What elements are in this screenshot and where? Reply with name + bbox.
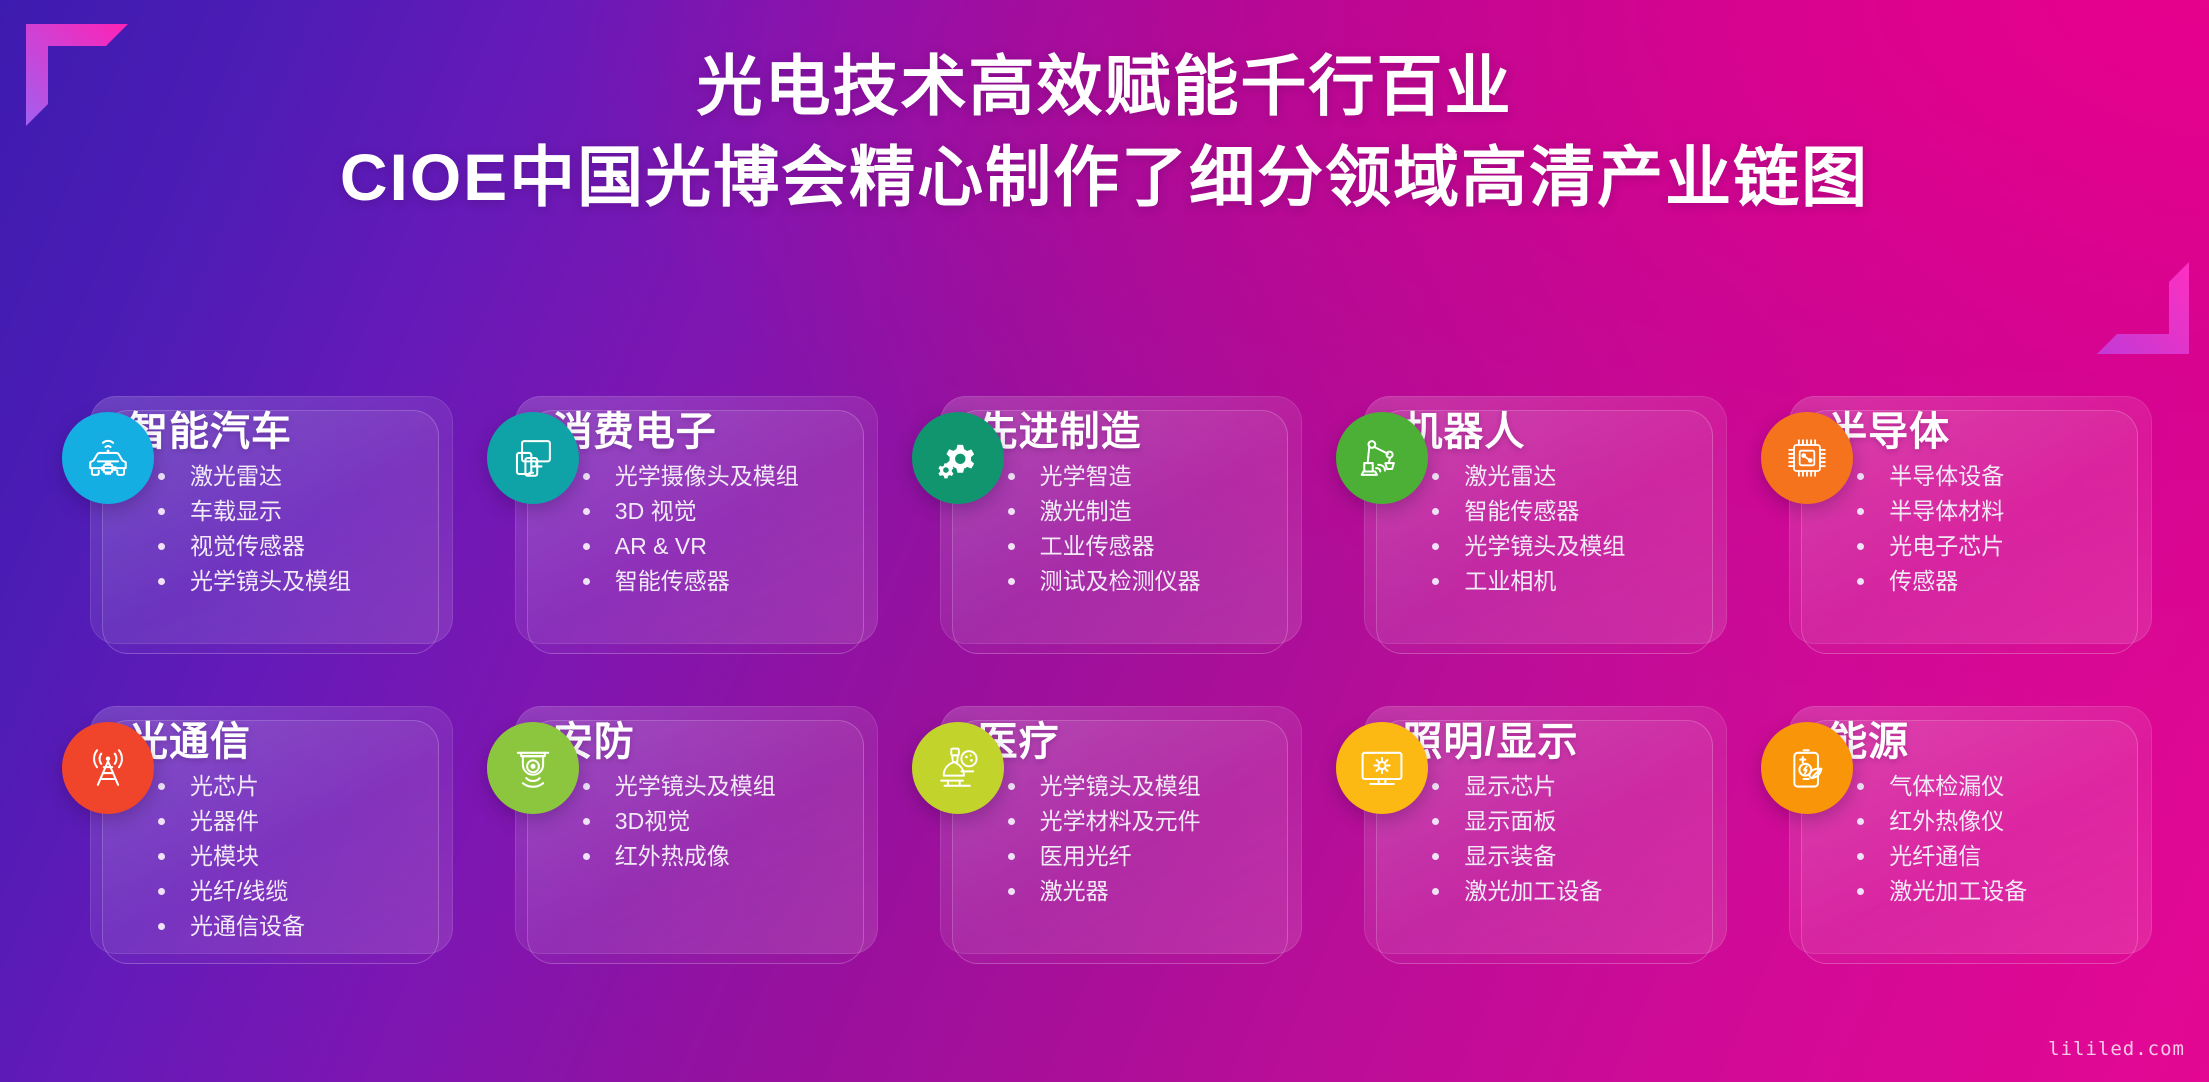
gears-icon [912,412,1004,504]
title-line-2: CIOE中国光博会精心制作了细分领域高清产业链图 [0,137,2209,218]
industry-card-item: 工业相机 [1430,564,1711,599]
industry-card-title: 消费电子 [553,410,862,455]
industry-card-item: 激光雷达 [156,459,437,494]
industry-card-body: 半导体 半导体设备半导体材料光电子芯片传感器 [1827,398,2136,660]
industry-card-list: 光芯片光器件光模块光纤/线缆光通信设备 [128,769,437,944]
industry-card-item: 光电子芯片 [1855,529,2136,564]
antenna-tower-icon [62,722,154,814]
industry-card-item: 光模块 [156,839,437,874]
industry-card-body: 消费电子 光学摄像头及模组3D 视觉AR & VR智能传感器 [553,398,862,660]
industry-card-item: 光器件 [156,804,437,839]
industry-card-item: 红外热像仪 [1855,804,2136,839]
industry-card-item: 智能传感器 [1430,494,1711,529]
monitor-brightness-icon [1336,722,1428,814]
industry-card-body: 安防 光学镜头及模组3D视觉红外热成像 [553,708,862,970]
industry-card-cell: 机器人 激光雷达智能传感器光学镜头及模组工业相机 [1336,388,1727,660]
battery-leaf-icon [1761,722,1853,814]
industry-card-item: 光通信设备 [156,909,437,944]
industry-card-item: 光纤通信 [1855,839,2136,874]
industry-card-cell: 半导体 半导体设备半导体材料光电子芯片传感器 [1761,388,2152,660]
industry-card-title: 照明/显示 [1402,720,1711,765]
industry-card-item: 工业传感器 [1006,529,1287,564]
cctv-camera-icon [487,722,579,814]
industry-card-item: 光学材料及元件 [1006,804,1287,839]
industry-card-item: 光芯片 [156,769,437,804]
industry-card-list: 光学镜头及模组光学材料及元件医用光纤激光器 [978,769,1287,909]
industry-card-item: 视觉传感器 [156,529,437,564]
industry-card-body: 光通信 光芯片光器件光模块光纤/线缆光通信设备 [128,708,437,970]
industry-card-item: 光学镜头及模组 [1006,769,1287,804]
industry-card-cell: 智能汽车 激光雷达车载显示视觉传感器光学镜头及模组 [62,388,453,660]
industry-card-body: 医疗 光学镜头及模组光学材料及元件医用光纤激光器 [978,708,1287,970]
industry-card-item: 光学镜头及模组 [581,769,862,804]
industry-card-title: 安防 [553,720,862,765]
corner-bracket-icon [2093,258,2193,358]
industry-card-item: 激光加工设备 [1430,874,1711,909]
industry-card-grid: 智能汽车 激光雷达车载显示视觉传感器光学镜头及模组 消费电子 光学摄像头及模组3… [62,388,2152,970]
industry-card-list: 光学镜头及模组3D视觉红外热成像 [553,769,862,874]
industry-card-item: 3D视觉 [581,804,862,839]
industry-card-list: 激光雷达智能传感器光学镜头及模组工业相机 [1402,459,1711,599]
industry-card-title: 先进制造 [978,410,1287,455]
industry-card-body: 机器人 激光雷达智能传感器光学镜头及模组工业相机 [1402,398,1711,660]
devices-icon [487,412,579,504]
industry-card-item: 光学智造 [1006,459,1287,494]
industry-card-item: 车载显示 [156,494,437,529]
industry-card-item: 3D 视觉 [581,494,862,529]
industry-card-title: 医疗 [978,720,1287,765]
industry-card-item: 激光制造 [1006,494,1287,529]
robot-arm-icon [1336,412,1428,504]
industry-card-body: 照明/显示 显示芯片显示面板显示装备激光加工设备 [1402,708,1711,970]
industry-card-cell: 能源 气体检漏仪红外热像仪光纤通信激光加工设备 [1761,698,2152,970]
industry-card-title: 光通信 [128,720,437,765]
industry-card-item: 智能传感器 [581,564,862,599]
page-header: 光电技术高效赋能千行百业 CIOE中国光博会精心制作了细分领域高清产业链图 [0,46,2209,217]
industry-card-title: 智能汽车 [128,410,437,455]
industry-card-list: 半导体设备半导体材料光电子芯片传感器 [1827,459,2136,599]
industry-card-body: 先进制造 光学智造激光制造工业传感器测试及检测仪器 [978,398,1287,660]
industry-card-body: 能源 气体检漏仪红外热像仪光纤通信激光加工设备 [1827,708,2136,970]
industry-card-item: 光学镜头及模组 [156,564,437,599]
smart-car-icon [62,412,154,504]
industry-card-title: 半导体 [1827,410,2136,455]
industry-card-item: 半导体材料 [1855,494,2136,529]
industry-card-title: 能源 [1827,720,2136,765]
microscope-icon [912,722,1004,814]
industry-card-item: 显示面板 [1430,804,1711,839]
industry-card-item: AR & VR [581,529,862,564]
industry-card-item: 传感器 [1855,564,2136,599]
industry-card-list: 气体检漏仪红外热像仪光纤通信激光加工设备 [1827,769,2136,909]
industry-card-cell: 先进制造 光学智造激光制造工业传感器测试及检测仪器 [912,388,1303,660]
industry-card-item: 激光雷达 [1430,459,1711,494]
industry-card-list: 光学智造激光制造工业传感器测试及检测仪器 [978,459,1287,599]
industry-card-list: 光学摄像头及模组3D 视觉AR & VR智能传感器 [553,459,862,599]
industry-card-item: 光学摄像头及模组 [581,459,862,494]
watermark: lililed.com [2048,1038,2185,1060]
industry-card-body: 智能汽车 激光雷达车载显示视觉传感器光学镜头及模组 [128,398,437,660]
industry-card-item: 显示芯片 [1430,769,1711,804]
industry-card-list: 显示芯片显示面板显示装备激光加工设备 [1402,769,1711,909]
title-line-1: 光电技术高效赋能千行百业 [0,46,2209,127]
industry-card-item: 半导体设备 [1855,459,2136,494]
industry-card-item: 光学镜头及模组 [1430,529,1711,564]
industry-card-item: 显示装备 [1430,839,1711,874]
industry-card-item: 气体检漏仪 [1855,769,2136,804]
industry-card-item: 激光器 [1006,874,1287,909]
industry-card-cell: 消费电子 光学摄像头及模组3D 视觉AR & VR智能传感器 [487,388,878,660]
industry-card-list: 激光雷达车载显示视觉传感器光学镜头及模组 [128,459,437,599]
poster-root: 光电技术高效赋能千行百业 CIOE中国光博会精心制作了细分领域高清产业链图 智能… [0,0,2209,1082]
industry-card-cell: 光通信 光芯片光器件光模块光纤/线缆光通信设备 [62,698,453,970]
chip-icon [1761,412,1853,504]
industry-card-item: 红外热成像 [581,839,862,874]
industry-card-cell: 照明/显示 显示芯片显示面板显示装备激光加工设备 [1336,698,1727,970]
industry-card-title: 机器人 [1402,410,1711,455]
industry-card-cell: 安防 光学镜头及模组3D视觉红外热成像 [487,698,878,970]
industry-card-item: 医用光纤 [1006,839,1287,874]
industry-card-item: 光纤/线缆 [156,874,437,909]
industry-card-cell: 医疗 光学镜头及模组光学材料及元件医用光纤激光器 [912,698,1303,970]
industry-card-item: 激光加工设备 [1855,874,2136,909]
industry-card-item: 测试及检测仪器 [1006,564,1287,599]
